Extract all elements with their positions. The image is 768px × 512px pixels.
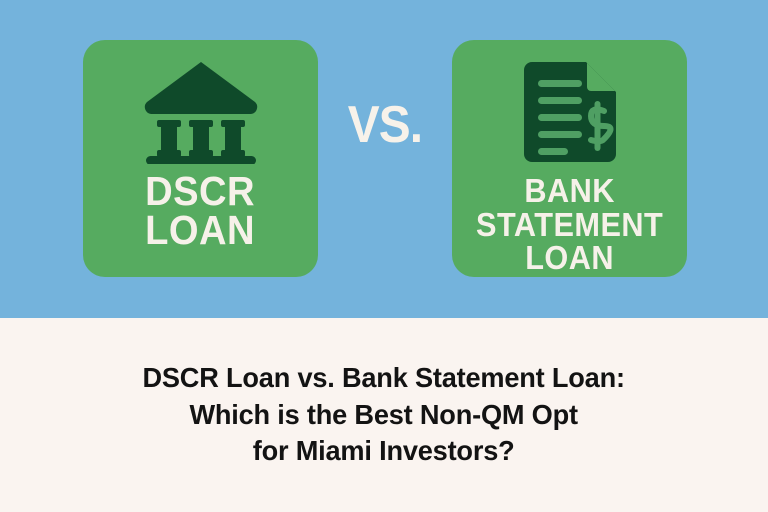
- bank-statement-document-icon: [524, 58, 616, 166]
- dscr-loan-card-label-line-1: DSCR: [146, 172, 256, 211]
- bank-statement-loan-card-label-line-1: BANK: [476, 174, 663, 208]
- dscr-loan-card: DSCR LOAN: [83, 40, 318, 277]
- dscr-loan-card-label-line-2: LOAN: [146, 211, 256, 250]
- page-title-line-2: Which is the Best Non-QM Opt: [143, 397, 625, 434]
- caption-band: DSCR Loan vs. Bank Statement Loan: Which…: [0, 318, 768, 512]
- bank-statement-loan-card: BANK STATEMENT LOAN: [452, 40, 687, 277]
- bank-statement-loan-card-label-line-2: STATEMENT: [476, 208, 663, 242]
- page-title-line-1: DSCR Loan vs. Bank Statement Loan:: [143, 360, 625, 397]
- bank-building-icon: [142, 58, 260, 166]
- bank-statement-loan-card-label-line-3: LOAN: [476, 241, 663, 275]
- bank-statement-loan-card-label: BANK STATEMENT LOAN: [476, 174, 663, 275]
- page-title: DSCR Loan vs. Bank Statement Loan: Which…: [143, 360, 625, 471]
- hero-band: DSCR LOAN VS.: [0, 0, 768, 318]
- page-title-line-3: for Miami Investors?: [143, 433, 625, 470]
- infographic-banner: DSCR LOAN VS.: [0, 0, 768, 512]
- dscr-loan-card-label: DSCR LOAN: [146, 172, 256, 251]
- versus-label: VS.: [323, 95, 446, 155]
